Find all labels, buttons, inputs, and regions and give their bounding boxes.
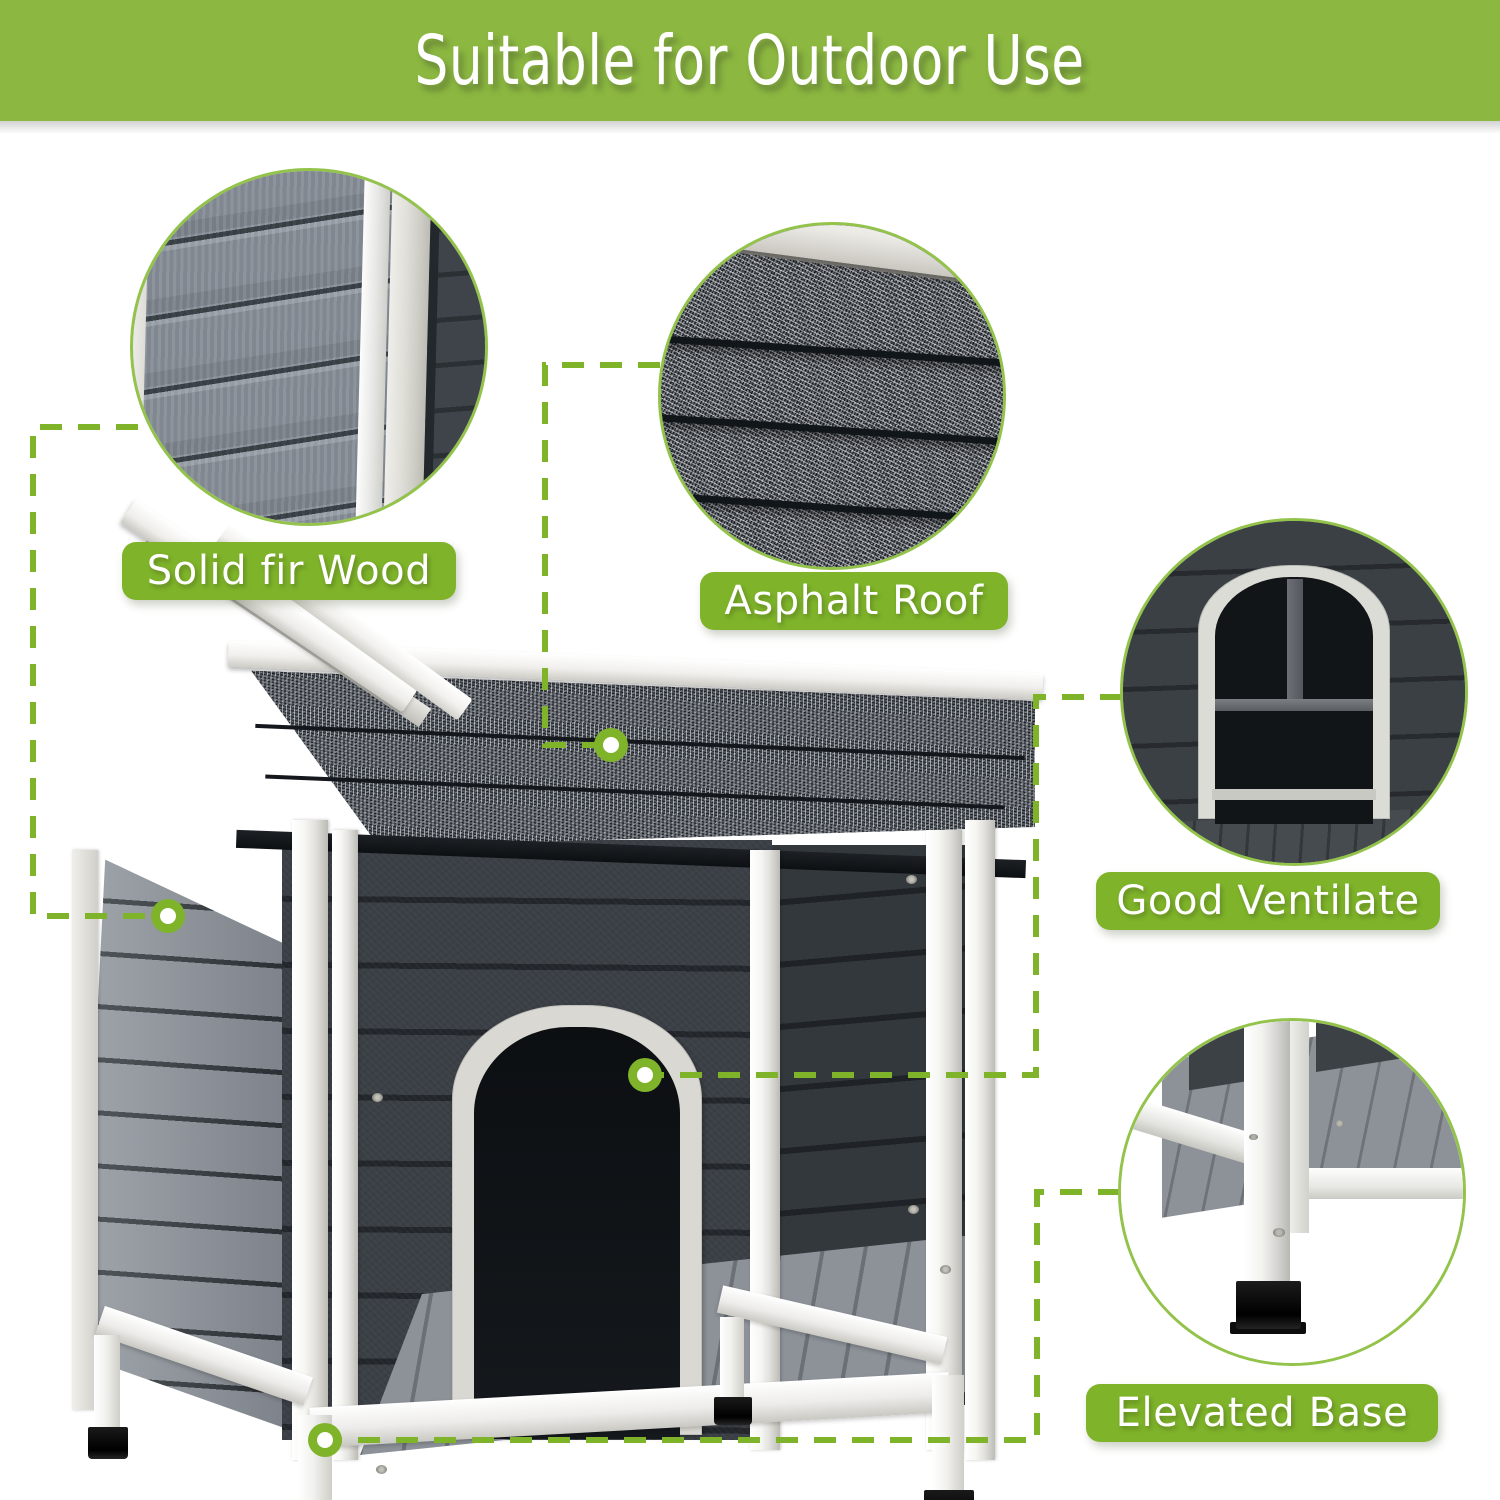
feature-chip-label: Good Ventilate [1116,878,1419,924]
feature-chip-label: Elevated Base [1116,1390,1409,1436]
leg-front-right [932,1375,964,1500]
arched-doorway-closeup-icon [1123,521,1465,863]
screw [376,1465,387,1474]
detail-circle-asphalt-roof [658,222,1006,570]
feature-chip-label: Asphalt Roof [724,578,983,624]
foot-cap-front-right [924,1490,974,1500]
screw [940,1265,951,1274]
front-left-post-inner [332,830,358,1460]
page-title: Suitable for Outdoor Use [415,21,1085,101]
front-left-post [292,820,328,1460]
feature-chip-good-ventilate[interactable]: Good Ventilate [1096,872,1440,930]
front-right-post-outer [965,820,995,1460]
infographic-canvas: Suitable for Outdoor Use [0,0,1500,1500]
leg-foot-closeup-icon [1121,1021,1463,1363]
feature-chip-label: Solid fir Wood [147,548,432,594]
arched-door-opening [474,1027,680,1439]
leg-back-right [720,1317,744,1407]
foot-cap-back-left [88,1427,128,1459]
detail-circle-solid-fir-wood [130,168,488,526]
screw [372,1093,383,1102]
feature-chip-solid-fir-wood[interactable]: Solid fir Wood [122,542,456,600]
porch-center-post [750,850,780,1450]
detail-circle-elevated-base [1118,1018,1466,1366]
product-image-dog-house: YZU [60,645,1020,1465]
asphalt-shingle-closeup-icon [661,225,1003,567]
feature-chip-asphalt-roof[interactable]: Asphalt Roof [700,572,1008,630]
wood-plank-closeup-icon [133,171,485,523]
header-banner: Suitable for Outdoor Use [0,0,1500,121]
left-corner-post [72,850,98,1410]
foot-cap-back-right [714,1397,752,1425]
feature-chip-elevated-base[interactable]: Elevated Base [1086,1384,1438,1442]
leg-front-left [298,1415,332,1500]
screw [906,875,917,884]
detail-circle-good-ventilate [1120,518,1468,866]
screw [908,1205,919,1214]
